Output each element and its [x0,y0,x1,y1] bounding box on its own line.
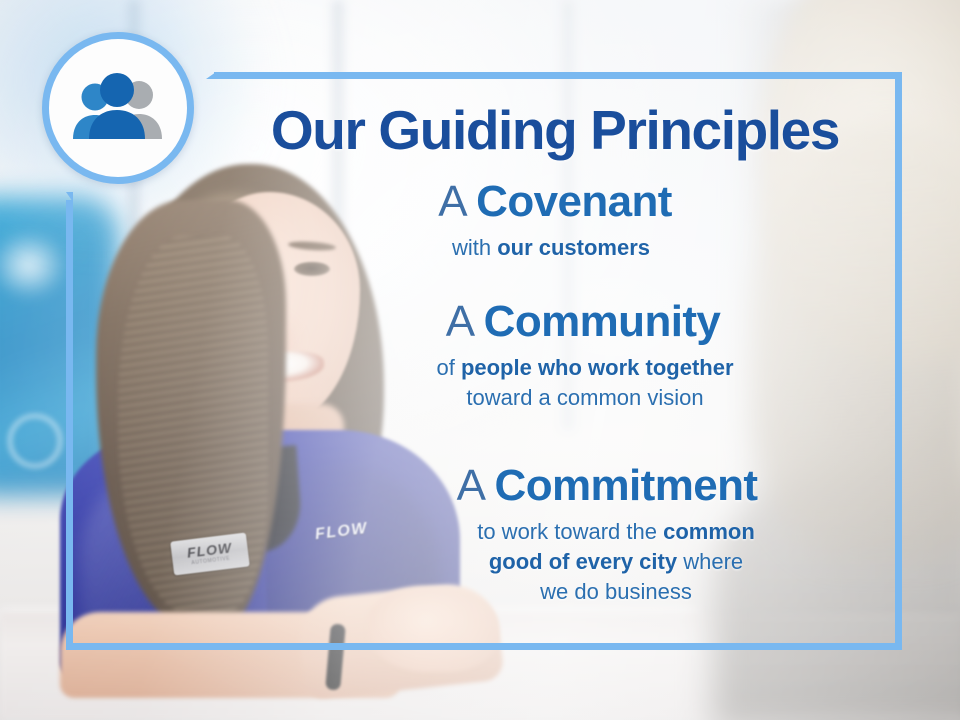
principle-keyword: Covenant [476,177,672,226]
principles-text-block: Our Guiding Principles A Covenant with o… [214,79,896,643]
body-text: where [677,549,743,574]
frame-left-end-cap [66,192,73,202]
principle-commitment: A Commitment to work toward the commongo… [214,461,896,607]
principle-article: A [446,297,472,346]
body-text: of [436,355,460,380]
frame-bottom-border [66,643,902,650]
body-text: we do business [540,579,692,604]
principle-description: to work toward the commongood of every c… [214,517,896,607]
principle-covenant: A Covenant with our customers [214,177,896,263]
emphasis-text: our customers [497,235,650,260]
emphasis-text: good of every city [489,549,677,574]
frame-top-border [214,72,902,79]
frame-left-border [66,200,73,650]
frame-top-end-cap [206,72,216,79]
principle-heading: A Community [214,297,896,347]
page-title: Our Guiding Principles [214,101,896,159]
principle-article: A [457,461,483,510]
body-text: toward a common vision [466,385,703,410]
body-text: with [452,235,497,260]
principle-keyword: Commitment [495,461,758,510]
emphasis-text: people who work together [461,355,734,380]
vehicle-emblem [8,414,62,468]
principle-description: with our customers [214,233,896,263]
principle-description: of people who work togethertoward a comm… [214,353,896,413]
emphasis-text: common [663,519,755,544]
group-of-people-icon [70,73,166,143]
guiding-principles-banner: FLOW AUTOMOTIVE FLOW [0,0,960,720]
principles-badge [42,32,194,184]
principle-keyword: Community [484,297,721,346]
body-text: to work toward the [477,519,663,544]
frame-right-border [895,72,902,650]
principle-article: A [438,177,464,226]
principle-heading: A Covenant [214,177,896,227]
principle-heading: A Commitment [214,461,896,511]
principle-community: A Community of people who work togethert… [214,297,896,413]
